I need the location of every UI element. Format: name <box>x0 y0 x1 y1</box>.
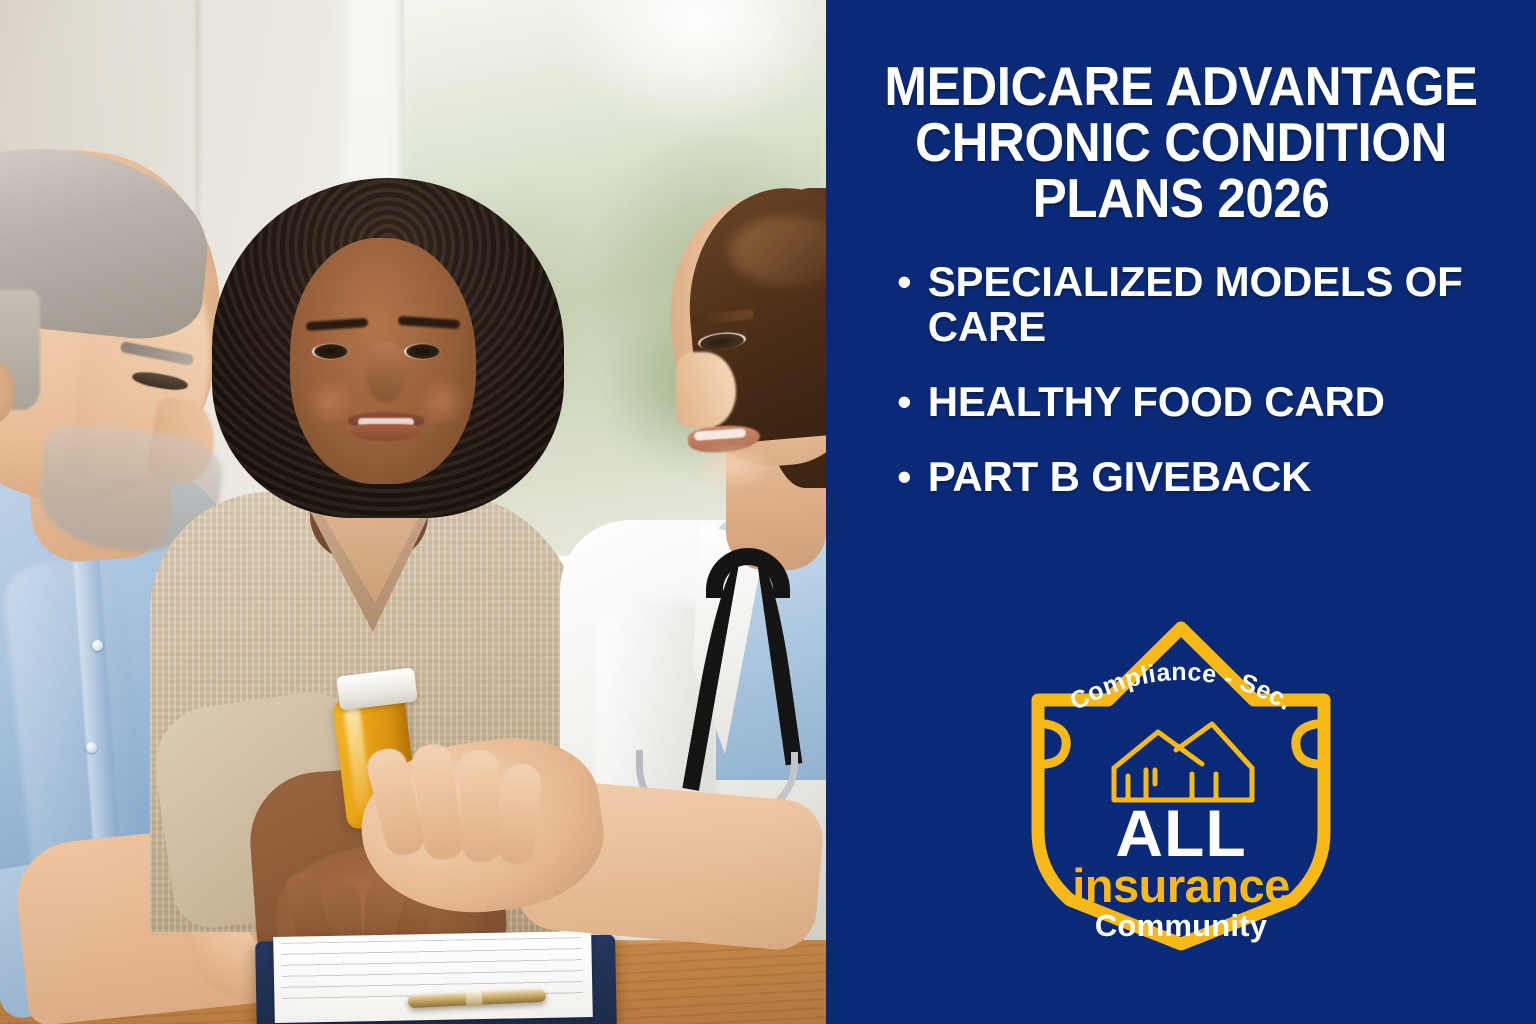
logo-line-community: Community <box>1095 908 1268 943</box>
info-panel: MEDICARE ADVANTAGE CHRONIC CONDITION PLA… <box>826 0 1536 1024</box>
woman-nose <box>366 342 406 402</box>
all-insurance-community-logo: Compliance - Sec. ALL insurance Communit… <box>1016 604 1346 960</box>
woman-eye <box>314 344 348 359</box>
list-item: • PART B GIVEBACK <box>897 455 1501 500</box>
doctor-finger <box>458 749 502 862</box>
woman-lower-lip <box>352 424 420 441</box>
shield-hook-left <box>1046 724 1066 764</box>
logo-arc-text: Compliance - Sec. <box>1065 658 1297 716</box>
list-item: • SPECIALIZED MODELS OF CARE <box>897 260 1501 350</box>
list-item: • HEALTHY FOOD CARD <box>897 380 1501 425</box>
benefits-list: • SPECIALIZED MODELS OF CARE • HEALTHY F… <box>861 260 1501 530</box>
house-roofline-icon <box>1114 724 1252 800</box>
consultation-photo <box>0 0 826 1024</box>
title-line-3: PLANS 2026 <box>874 170 1488 226</box>
bullet-dot-icon: • <box>897 266 912 298</box>
bullet-dot-icon: • <box>897 386 912 418</box>
doctor-nose <box>676 352 736 428</box>
title-line-2: CHRONIC CONDITION <box>874 114 1488 170</box>
doctor-chin <box>690 442 776 490</box>
bullet-label-1: SPECIALIZED MODELS OF CARE <box>928 260 1468 350</box>
medicare-banner: MEDICARE ADVANTAGE CHRONIC CONDITION PLA… <box>0 0 1536 1024</box>
bullet-label-2: HEALTHY FOOD CARD <box>928 380 1385 425</box>
bullet-label-3: PART B GIVEBACK <box>928 455 1312 500</box>
title-line-1: MEDICARE ADVANTAGE <box>874 58 1488 114</box>
bullet-dot-icon: • <box>897 461 912 493</box>
woman-eye <box>406 344 440 359</box>
pen-band <box>466 991 483 1007</box>
man-shirt-button <box>86 742 97 753</box>
man-shirt-button <box>92 640 103 651</box>
logo-line-insurance: insurance <box>1072 859 1290 912</box>
panel-title: MEDICARE ADVANTAGE CHRONIC CONDITION PLA… <box>874 58 1488 226</box>
shield-hook-right <box>1296 724 1316 764</box>
